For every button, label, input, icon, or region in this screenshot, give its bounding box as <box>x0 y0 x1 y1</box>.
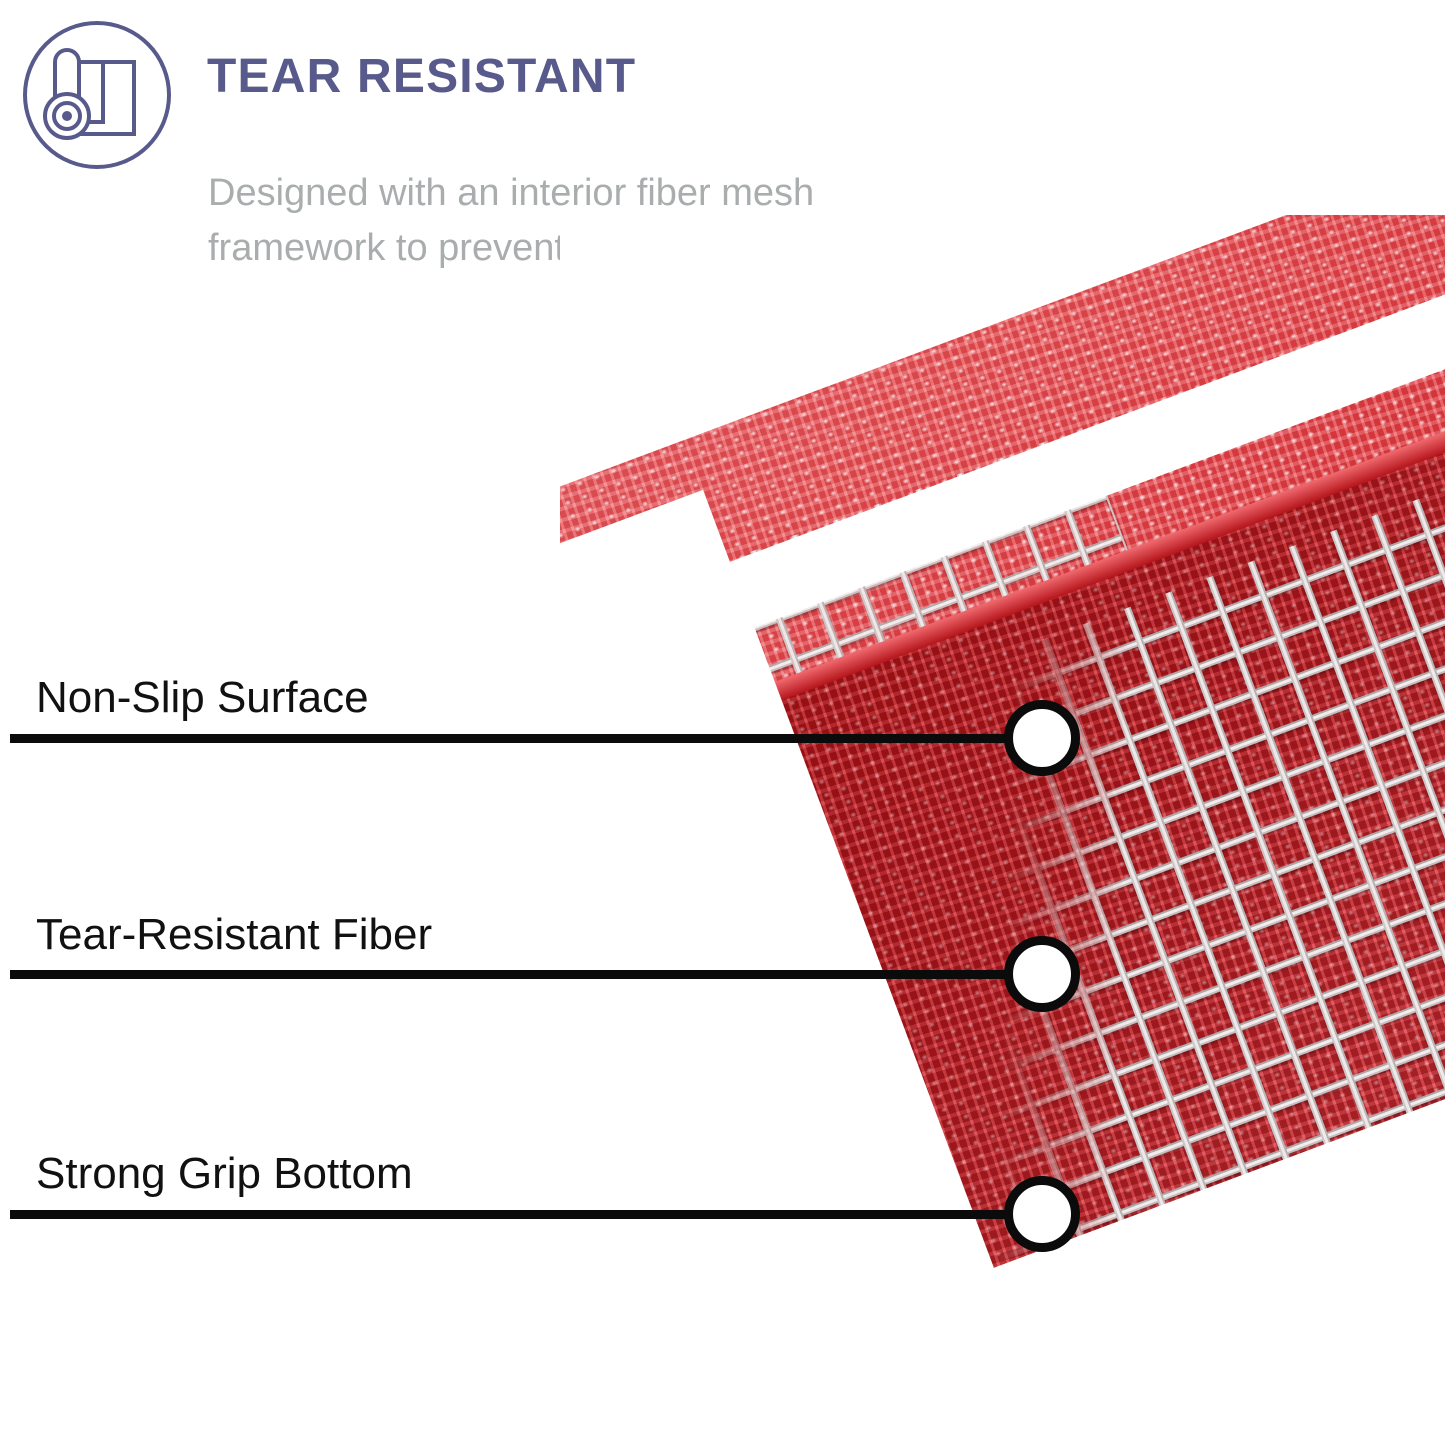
callout-label-tear-resistant-fiber: Tear-Resistant Fiber <box>36 913 432 957</box>
rolled-mat-icon <box>18 16 176 174</box>
callout-leader-line-3 <box>10 1210 1045 1219</box>
callout-label-strong-grip-bottom: Strong Grip Bottom <box>36 1152 413 1196</box>
callout-label-non-slip-surface: Non-Slip Surface <box>36 676 369 720</box>
callout-marker-3 <box>1004 1176 1080 1252</box>
page-title: TEAR RESISTANT <box>207 52 636 102</box>
callout-leader-line-2 <box>10 970 1045 979</box>
callout-leader-line-1 <box>10 734 1045 743</box>
infographic-page: TEAR RESISTANT Designed with an interior… <box>0 0 1445 1446</box>
callout-marker-1 <box>1004 700 1080 776</box>
callout-marker-2 <box>1004 936 1080 1012</box>
product-photo <box>560 215 1445 1446</box>
